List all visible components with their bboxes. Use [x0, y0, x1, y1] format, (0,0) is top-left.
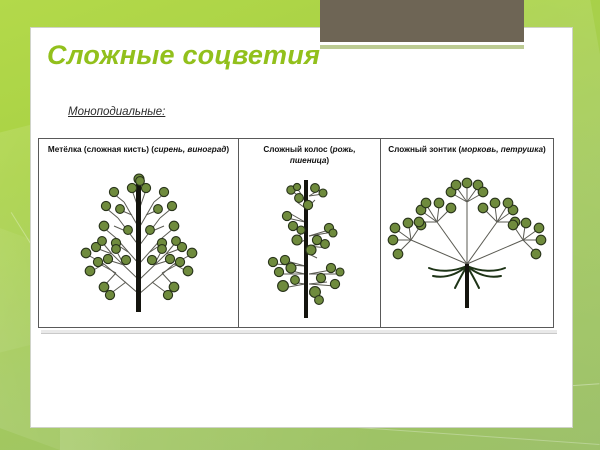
page-title: Сложные соцветия: [47, 40, 320, 71]
slide-canvas: Сложные соцветия Моноподиальные: Метёлка…: [0, 0, 600, 450]
caption-tail-text: ): [226, 145, 229, 154]
column-caption-panicle: Метёлка (сложная кисть) (сирень, виногра…: [39, 139, 238, 157]
figure-panicle: [39, 157, 238, 327]
caption-bold-text: Сложный колос (: [263, 145, 332, 154]
compound-umbel-diagram: [385, 168, 549, 316]
panicle-diagram: [46, 168, 232, 316]
column-caption-compound-spike: Сложный колос (рожь, пшеница): [239, 139, 380, 168]
table-column-panicle: Метёлка (сложная кисть) (сирень, виногра…: [39, 139, 239, 327]
figure-compound-spike: [239, 168, 380, 327]
caption-tail-text: ): [543, 145, 546, 154]
caption-tail-text: ): [326, 156, 329, 165]
caption-species-text: морковь, петрушка: [461, 145, 543, 154]
column-caption-compound-umbel: Сложный зонтик (морковь, петрушка): [381, 139, 553, 157]
caption-bold-text: Метёлка (сложная кисть) (: [48, 145, 154, 154]
caption-species-text: сирень, виноград: [154, 145, 226, 154]
figure-compound-umbel: [381, 157, 553, 327]
table-bottom-shadow: [41, 330, 557, 334]
compound-spike-diagram: [243, 174, 377, 322]
top-placeholder-box: [320, 0, 524, 45]
section-subtitle: Моноподиальные:: [68, 106, 165, 118]
table-column-compound-spike: Сложный колос (рожь, пшеница): [239, 139, 381, 327]
caption-bold-text: Сложный зонтик (: [388, 145, 461, 154]
table-column-compound-umbel: Сложный зонтик (морковь, петрушка): [381, 139, 553, 327]
inflorescence-table: Метёлка (сложная кисть) (сирень, виногра…: [38, 138, 554, 328]
